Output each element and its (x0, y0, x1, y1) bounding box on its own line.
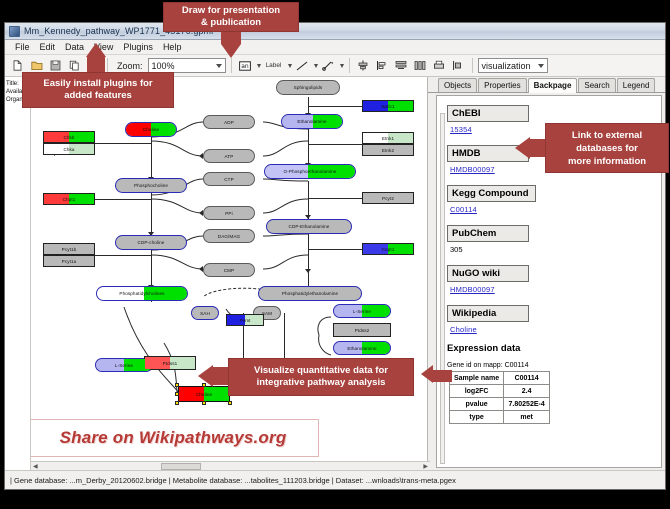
fit-to-window-icon[interactable] (450, 57, 467, 74)
selection-handle-nw[interactable] (175, 383, 179, 387)
node-adp[interactable]: ADP (203, 115, 255, 129)
node-phosphatidylethanolamine[interactable]: Phosphatidylethanolamine (258, 286, 362, 301)
callout-draw-for-presentation: Draw for presentation & publication (163, 2, 299, 32)
dock-tabbar: Objects Properties Backpage Search Legen… (428, 77, 665, 93)
expr-value-pvalue: 7.80252E-4 (504, 398, 550, 411)
menu-data[interactable]: Data (60, 41, 89, 53)
callout-visualize-arrow-icon (198, 365, 213, 387)
node-label: PPi (225, 211, 232, 216)
node-label: Pcyt1b (62, 247, 77, 252)
expr-value-log2fc: 2.4 (504, 385, 550, 398)
selection-handle-s[interactable] (202, 401, 206, 405)
toolbar-separator (231, 58, 232, 73)
svg-text:an: an (241, 63, 249, 70)
db-value-pubchem: 305 (450, 245, 661, 254)
label-tool-label: Label (266, 62, 282, 69)
stack-rows-icon[interactable] (393, 57, 410, 74)
node-label: Etnk2 (382, 148, 394, 153)
node-label: Pcyt1a (62, 259, 77, 264)
visualization-value: visualization (482, 61, 531, 71)
line-dropdown-icon[interactable] (314, 64, 318, 68)
node-etnk2[interactable]: Etnk2 (362, 144, 414, 156)
node-ctp[interactable]: CTP (203, 172, 255, 186)
node-label: ATP (225, 154, 234, 159)
node-label: DAG/MAG (218, 234, 240, 239)
tab-legend[interactable]: Legend (617, 78, 656, 92)
zoom-label: Zoom: (117, 61, 143, 71)
db-link-nugo-wiki[interactable]: HMDB00097 (450, 285, 661, 294)
node-label: Choline (143, 127, 159, 132)
canvas-hscrollbar[interactable]: ◀ ▶ (31, 461, 430, 470)
hscroll-thumb[interactable] (161, 463, 201, 470)
db-header-kegg-compound: Kegg Compound (447, 185, 536, 202)
visualization-combo[interactable]: visualization (478, 58, 548, 73)
expr-key-pvalue: pvalue (450, 398, 504, 411)
node-etnk1[interactable]: Etnk1 (362, 132, 414, 144)
toolbar-separator (349, 58, 350, 73)
node-cmp[interactable]: CMP (203, 263, 255, 277)
distribute-icon[interactable] (412, 57, 429, 74)
wikipathways-banner: Share on Wikipathways.org (31, 419, 319, 457)
node-label: CDP-Ethanolamine (289, 224, 330, 229)
table-row: log2FC 2.4 (450, 385, 550, 398)
align-center-icon[interactable] (355, 57, 372, 74)
node-label: L-Serine (353, 309, 371, 314)
node-label: ADP (224, 120, 234, 125)
node-label: CTP (224, 177, 234, 182)
node-label: CDP-choline (138, 240, 165, 245)
node-label: Pcyt2 (382, 196, 394, 201)
title-bar: Mm_Kennedy_pathway_WP1771_45176.gpml (5, 23, 665, 40)
menu-edit[interactable]: Edit (35, 41, 61, 53)
node-dag-mag[interactable]: DAG/MAG (203, 229, 255, 243)
callout-link-text: Link to external databases for more info… (568, 129, 646, 168)
node-sah[interactable]: SAH (191, 306, 219, 320)
gene-id-on-mapp: Gene id on mapp: C00114 (447, 362, 661, 369)
scroll-left-arrow-icon[interactable]: ◀ (31, 463, 40, 470)
zoom-value: 100% (152, 61, 175, 71)
node-l-serine-right[interactable]: L-Serine (333, 304, 391, 318)
toolbar-separator (472, 58, 473, 73)
db-header-nugo-wiki: NuGO wiki (447, 265, 529, 282)
node-chka[interactable]: Chka (43, 143, 95, 155)
node-phosphatidylcholines[interactable]: Phosphatidylcholines (96, 286, 188, 301)
callout-visualize-quantitative-data: Visualize quantitative data for integrat… (228, 358, 414, 396)
node-ethanolamine-right[interactable]: Ethanolamine (333, 341, 391, 355)
table-row: pvalue 7.80252E-4 (450, 398, 550, 411)
node-pcyt1a[interactable]: Pcyt1a (43, 255, 95, 267)
callout-plugins-arrow-icon (86, 43, 106, 57)
node-ptdss2[interactable]: Ptdss2 (333, 323, 391, 337)
node-cdp-ethanolamine[interactable]: CDP-Ethanolamine (266, 219, 352, 234)
tab-search[interactable]: Search (578, 78, 615, 92)
expr-key-log2fc: log2FC (450, 385, 504, 398)
db-header-chebi: ChEBI (447, 105, 529, 122)
node-label: Cept1 (382, 247, 395, 252)
pathway-drawing: Sphingolipids Choline Ethanolamine Phosp… (31, 77, 427, 470)
callout-visualize-text: Visualize quantitative data for integrat… (254, 365, 388, 389)
menu-help[interactable]: Help (158, 41, 187, 53)
node-ppi[interactable]: PPi (203, 206, 255, 220)
scroll-right-arrow-icon[interactable]: ▶ (421, 463, 430, 470)
node-label: O-Phosphoethanolamine (284, 169, 337, 174)
node-label: SAH (200, 311, 210, 316)
callout-easily-install-plugins: Easily install plugins for added feature… (22, 72, 174, 108)
callout-plugins-text: Easily install plugins for added feature… (43, 78, 152, 102)
pathway-canvas[interactable]: Sphingolipids Choline Ethanolamine Phosp… (31, 77, 428, 470)
callout-link-stem (530, 139, 546, 157)
node-label: Ethanolamine (297, 119, 326, 124)
node-o-phosphoethanolamine[interactable]: O-Phosphoethanolamine (264, 164, 356, 179)
status-bar: | Gene database: ...m_Derby_20120602.bri… (5, 470, 665, 489)
node-pcyt2[interactable]: Pcyt2 (362, 192, 414, 204)
db-header-wikipedia: Wikipedia (447, 305, 529, 322)
node-label: Ethanolamine (347, 346, 376, 351)
node-phosphocholine[interactable]: Phosphocholine (115, 178, 187, 193)
expr-value-type: met (504, 411, 550, 424)
node-label: Ptdss1 (163, 361, 178, 366)
db-header-pubchem: PubChem (447, 225, 529, 242)
selection-handle-se[interactable] (228, 401, 232, 405)
node-pcyt1b[interactable]: Pcyt1b (43, 243, 95, 255)
node-choline-top[interactable]: Choline (125, 122, 177, 137)
callout-draw-text: Draw for presentation & publication (182, 5, 280, 29)
zoom-combo[interactable]: 100% (148, 58, 226, 73)
callout-expression-stem (432, 370, 452, 382)
table-row: type met (450, 411, 550, 424)
node-label: Sphingolipids (294, 85, 323, 90)
interaction-tool-icon[interactable] (320, 57, 337, 74)
node-chpt1[interactable]: Chpt1 (43, 193, 95, 205)
toolbar-separator (107, 58, 108, 73)
selection-handle-w[interactable] (175, 392, 179, 396)
node-pemt[interactable]: Pemt (226, 314, 264, 326)
callout-link-external-databases: Link to external databases for more info… (545, 123, 669, 173)
app-icon (9, 26, 20, 37)
expression-data-title: Expression data (447, 343, 661, 354)
callout-draw-stem (221, 32, 241, 44)
chevron-down-icon (216, 64, 222, 68)
node-label: Phosphatidylcholines (119, 291, 164, 296)
menu-plugins[interactable]: Plugins (118, 41, 158, 53)
print-icon[interactable] (431, 57, 448, 74)
label-tool-icon[interactable]: Label (263, 57, 285, 74)
node-cept1[interactable]: Cept1 (362, 243, 414, 255)
align-left-icon[interactable] (374, 57, 391, 74)
node-label: CMP (224, 268, 235, 273)
table-row: Sample name C00114 (450, 372, 550, 385)
tab-objects[interactable]: Objects (438, 78, 477, 92)
node-label: Ptdss2 (355, 328, 370, 333)
node-label: Etnk1 (382, 136, 394, 141)
tab-properties[interactable]: Properties (478, 78, 526, 92)
node-label: Chka (63, 147, 74, 152)
node-label: Chkb (63, 135, 74, 140)
expr-key-sample-name: Sample name (450, 372, 504, 385)
node-label: SAM (262, 311, 272, 316)
datanode-tool-icon[interactable]: an (237, 57, 254, 74)
selection-handle-sw[interactable] (175, 401, 179, 405)
node-sphingolipids[interactable]: Sphingolipids (276, 80, 340, 95)
node-label: Choline (196, 392, 212, 397)
datanode-dropdown-icon[interactable] (257, 64, 261, 68)
node-label: L-Serine (115, 363, 133, 368)
db-link-wikipedia[interactable]: Choline (450, 325, 661, 334)
screenshot-root: Draw for presentation & publication Mm_K… (0, 0, 670, 509)
expr-value-sample-name: C00114 (504, 372, 550, 385)
node-chkb[interactable]: Chkb (43, 131, 95, 143)
callout-draw-arrow-icon (221, 44, 241, 58)
callout-expression-arrow-icon (421, 365, 433, 383)
tab-backpage[interactable]: Backpage (528, 78, 578, 93)
wikipathways-banner-text: Share on Wikipathways.org (60, 428, 287, 448)
chevron-down-icon (538, 64, 544, 68)
node-label: Chpt1 (63, 197, 76, 202)
node-choline-selected[interactable]: Choline (178, 386, 230, 402)
node-label: Sptlc1 (381, 104, 394, 109)
node-ptdss1[interactable]: Ptdss1 (144, 356, 196, 370)
expression-table: Sample name C00114 log2FC 2.4 pvalue 7.8… (449, 371, 550, 424)
expr-key-type: type (450, 411, 504, 424)
backpage-scroll-gutter[interactable] (440, 113, 445, 464)
menu-file[interactable]: File (10, 41, 35, 53)
line-tool-icon[interactable] (294, 57, 311, 74)
interaction-dropdown-icon[interactable] (340, 64, 344, 68)
node-cdp-choline[interactable]: CDP-choline (115, 235, 187, 250)
pathway-info-strip: Title: Availa Organ (5, 77, 31, 470)
db-link-kegg-compound[interactable]: C00114 (450, 205, 661, 214)
node-label: Pemt (239, 318, 250, 323)
node-ethanolamine-top[interactable]: Ethanolamine (281, 114, 343, 129)
node-label: Phosphocholine (134, 183, 168, 188)
node-label: Phosphatidylethanolamine (282, 291, 338, 296)
label-dropdown-icon[interactable] (288, 64, 292, 68)
callout-link-arrow-icon (515, 137, 530, 159)
node-atp[interactable]: ATP (203, 149, 255, 163)
status-bar-text: | Gene database: ...m_Derby_20120602.bri… (10, 476, 456, 485)
node-sptlc1[interactable]: Sptlc1 (362, 100, 414, 112)
callout-plugins-stem (87, 56, 105, 73)
